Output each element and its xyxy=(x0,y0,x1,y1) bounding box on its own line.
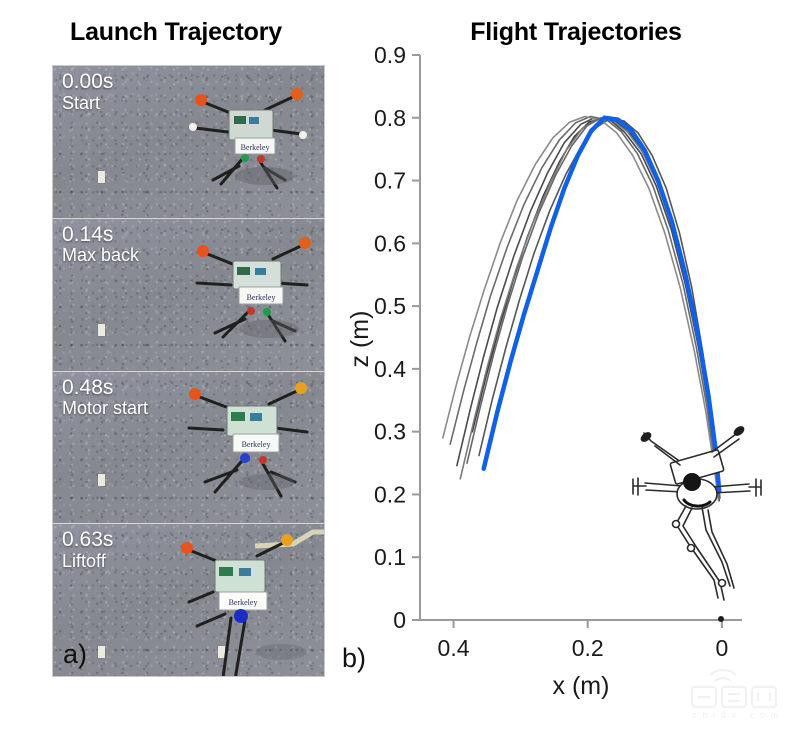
x-axis-label: x (m) xyxy=(553,672,610,700)
y-tick-label: 0.6 xyxy=(374,230,406,256)
watermark-zhidx: z h i d x . c o m xyxy=(684,661,788,721)
trajectory-lines xyxy=(443,117,720,501)
trajectory-line xyxy=(460,119,719,494)
watermark-text: z h i d x . c o m xyxy=(692,710,780,720)
flight-trajectories-panel: Flight Trajectories 00.10.20.30.40.50.60… xyxy=(352,0,800,731)
trajectory-line xyxy=(479,119,720,498)
trajectory-line xyxy=(457,118,719,496)
y-tick-label: 0.7 xyxy=(374,168,406,194)
x-tick-label: 0.2 xyxy=(572,635,604,661)
panel-b-letter: b) xyxy=(342,643,366,674)
flight-trajectories-chart: 00.10.20.30.40.50.60.70.80.9 0.40.20 xyxy=(0,0,800,731)
x-axis-ticks: 0.40.20 xyxy=(438,620,729,661)
trajectory-line xyxy=(443,117,719,501)
y-tick-label: 0.1 xyxy=(374,544,406,570)
y-tick-label: 0.4 xyxy=(374,356,406,382)
y-tick-label: 0.5 xyxy=(374,293,406,319)
y-axis-ticks: 00.10.20.30.40.50.60.70.80.9 xyxy=(374,42,420,633)
y-tick-label: 0.8 xyxy=(374,105,406,131)
robot-line-drawing-overlay xyxy=(633,424,761,622)
y-axis-label: z (m) xyxy=(346,311,374,368)
trajectory-line xyxy=(472,118,719,501)
y-tick-label: 0.9 xyxy=(374,42,406,68)
x-tick-label: 0 xyxy=(715,635,728,661)
x-tick-label: 0.4 xyxy=(438,635,470,661)
y-tick-label: 0 xyxy=(393,607,406,633)
y-tick-label: 0.3 xyxy=(374,419,406,445)
y-tick-label: 0.2 xyxy=(374,481,406,507)
